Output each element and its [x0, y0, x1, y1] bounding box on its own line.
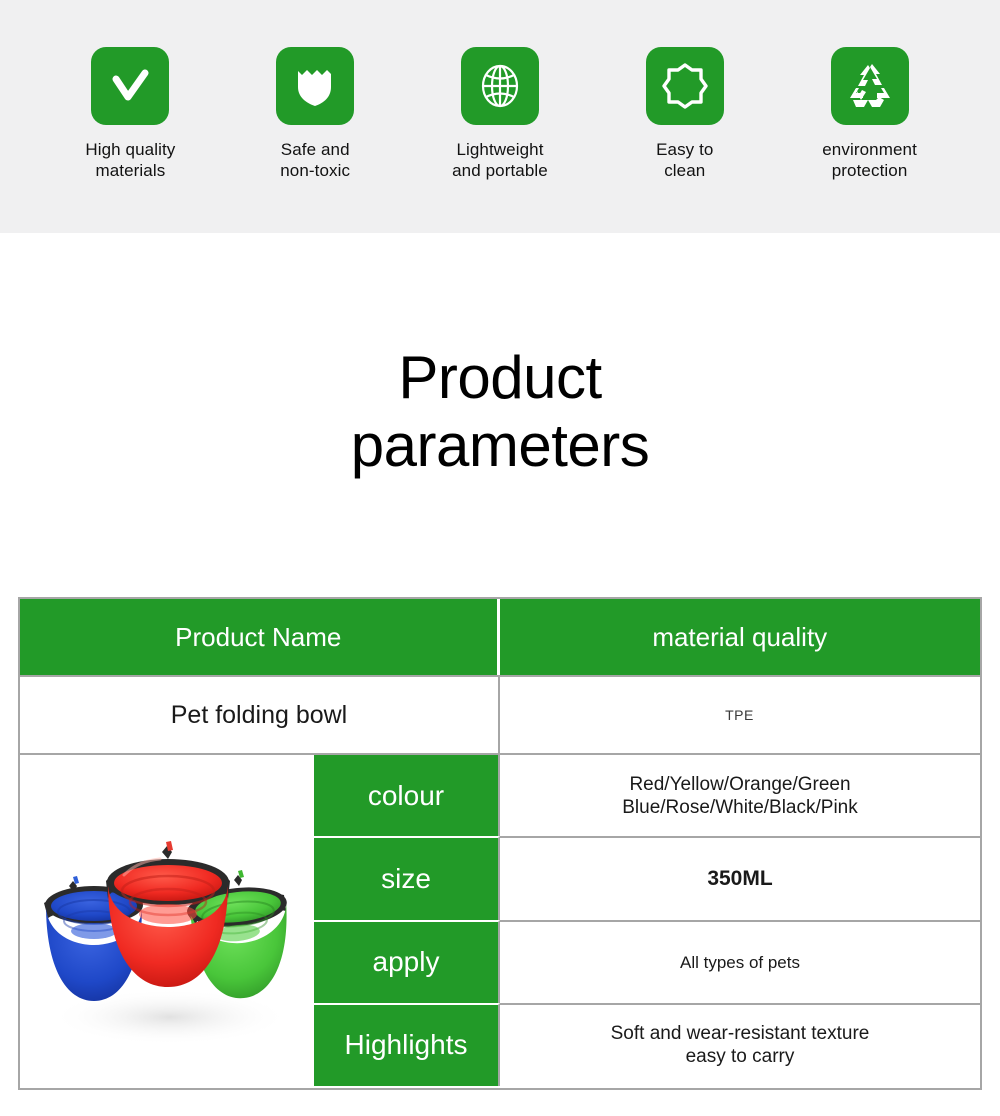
table-row: Highlights Soft and wear-resistant textu… [314, 1003, 980, 1086]
product-parameters-table: Product Name material quality Pet foldin… [18, 597, 982, 1090]
table-row: apply All types of pets [314, 920, 980, 1003]
product-detail-page: High quality materials Safe and non-toxi… [0, 0, 1000, 1116]
product-image-cell [20, 755, 314, 1086]
table-lower-block: colour Red/Yellow/Orange/Green Blue/Rose… [20, 753, 980, 1086]
feature-label: Safe and non-toxic [280, 139, 350, 181]
table-row: Pet folding bowl TPE [20, 675, 980, 753]
checkmark-icon [91, 47, 169, 125]
feature-item-easy-to-clean: Easy to clean [592, 47, 777, 181]
spec-label-colour: colour [314, 755, 500, 836]
table-header-product-name: Product Name [20, 599, 500, 675]
spec-value-apply: All types of pets [500, 922, 980, 1003]
feature-item-environment-protection: environment protection [777, 47, 962, 181]
collapsible-pet-bowls-photo [20, 755, 314, 1086]
cell-material-quality-value: TPE [500, 677, 979, 753]
spec-label-size: size [314, 836, 500, 919]
feature-item-lightweight-and-portable: Lightweight and portable [408, 47, 593, 181]
cell-product-name-value: Pet folding bowl [20, 677, 500, 753]
feature-label: Easy to clean [656, 139, 713, 181]
recycle-icon [831, 47, 909, 125]
table-header-row: Product Name material quality [20, 599, 980, 675]
table-row: colour Red/Yellow/Orange/Green Blue/Rose… [314, 755, 980, 836]
starburst-icon [646, 47, 724, 125]
feature-item-high-quality-materials: High quality materials [38, 47, 223, 181]
table-header-material-quality: material quality [500, 599, 981, 675]
feature-banner: High quality materials Safe and non-toxi… [0, 0, 1000, 233]
feature-label: environment protection [822, 139, 917, 181]
spec-label-highlights: Highlights [314, 1003, 500, 1086]
feature-item-safe-and-non-toxic: Safe and non-toxic [223, 47, 408, 181]
spec-value-highlights: Soft and wear-resistant texture easy to … [500, 1005, 980, 1086]
feature-label: Lightweight and portable [452, 139, 548, 181]
spec-label-apply: apply [314, 920, 500, 1003]
page-title: Product parameters [0, 344, 1000, 480]
spec-value-size: 350ML [500, 838, 980, 919]
shield-icon [276, 47, 354, 125]
spec-value-colour: Red/Yellow/Orange/Green Blue/Rose/White/… [500, 755, 980, 836]
spec-rows: colour Red/Yellow/Orange/Green Blue/Rose… [314, 755, 980, 1086]
feature-label: High quality materials [85, 139, 175, 181]
globe-icon [461, 47, 539, 125]
table-row: size 350ML [314, 836, 980, 919]
feature-list: High quality materials Safe and non-toxi… [0, 47, 1000, 181]
